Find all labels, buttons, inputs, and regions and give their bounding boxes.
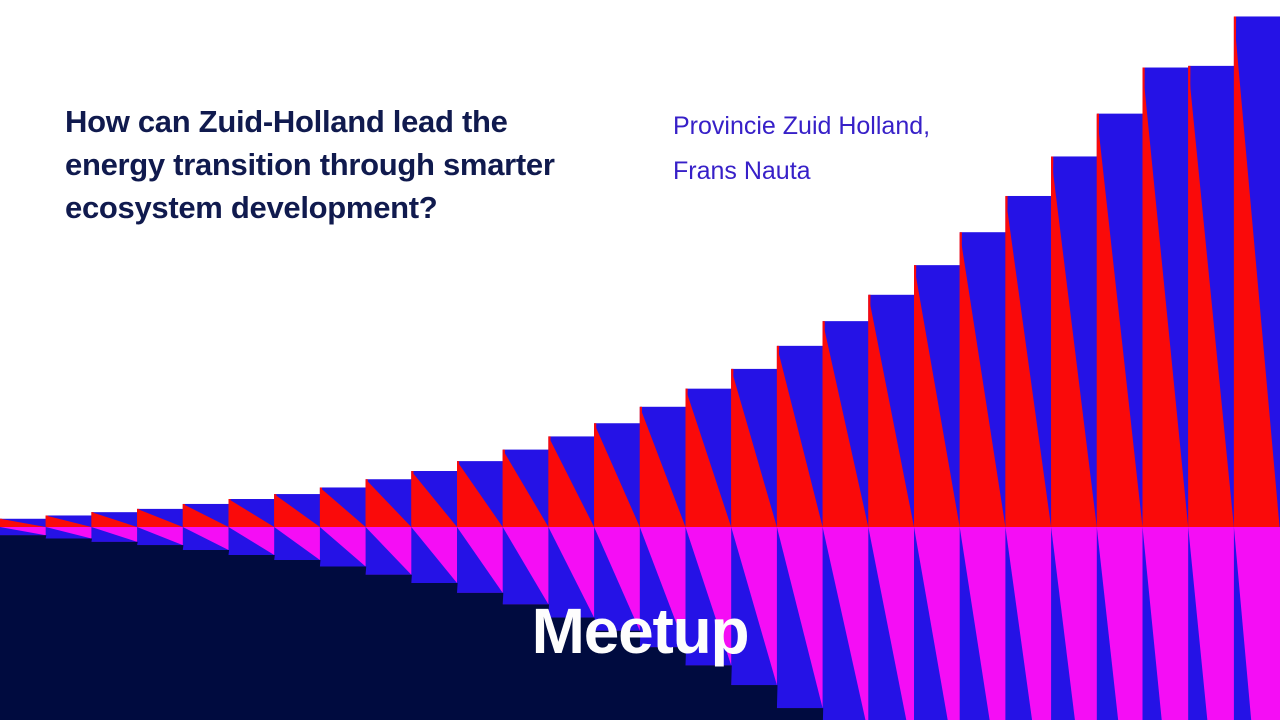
bar-upper-blue — [777, 346, 823, 527]
bar-upper-blue — [1051, 156, 1097, 527]
bar-upper-blue — [594, 423, 640, 527]
bar-upper-red-edge — [594, 423, 596, 527]
bar-upper-blue — [1005, 196, 1051, 527]
bar-upper-blue — [548, 436, 594, 527]
bar-upper-red-triangle — [274, 494, 320, 527]
bar-upper-blue — [1097, 114, 1143, 527]
bar-upper-blue — [137, 509, 183, 527]
bar-upper-red-triangle — [46, 515, 92, 527]
bar-upper-red-triangle — [1234, 16, 1280, 527]
bar-upper-blue — [320, 487, 366, 527]
bar-upper-red-triangle — [91, 512, 137, 527]
bar-upper-red-triangle — [731, 369, 777, 527]
bar-upper-red-edge — [183, 504, 185, 527]
bar-upper-red-edge — [503, 450, 505, 527]
page-title: How can Zuid-Holland lead the energy tra… — [65, 100, 575, 229]
bar-upper-red-edge — [46, 515, 48, 527]
bar-upper-red-triangle — [548, 436, 594, 527]
bar-upper-blue — [46, 515, 92, 527]
meetup-slide: How can Zuid-Holland lead the energy tra… — [0, 0, 1280, 720]
bar-upper-red-triangle — [914, 265, 960, 527]
presenter-credit: Provincie Zuid Holland, Frans Nauta — [673, 104, 1093, 194]
bar-upper-red-triangle — [1188, 66, 1234, 527]
bar-upper-red-triangle — [366, 479, 412, 527]
bar-upper-blue — [731, 369, 777, 527]
bar-upper-red-edge — [1143, 68, 1145, 527]
bar-upper-red-triangle — [229, 499, 275, 527]
bar-upper-blue — [366, 479, 412, 527]
bar-upper-red-triangle — [503, 450, 549, 527]
footer-meetup-label: Meetup — [0, 592, 1280, 670]
bar-upper-red-edge — [868, 295, 870, 527]
bar-upper-red-edge — [411, 471, 413, 527]
bar-upper-blue — [1188, 66, 1234, 527]
bar-upper-red-triangle — [868, 295, 914, 527]
bar-upper-red-edge — [91, 512, 93, 527]
bar-upper-red-edge — [1234, 16, 1236, 527]
bar-upper-blue — [1234, 16, 1280, 527]
bar-upper-red-edge — [548, 436, 550, 527]
bar-upper-blue — [183, 504, 229, 527]
bar-upper-red-edge — [320, 487, 322, 527]
bar-upper-blue — [0, 519, 46, 527]
bar-upper-blue — [457, 461, 503, 527]
bar-upper-red-edge — [274, 494, 276, 527]
bar-upper-red-edge — [137, 509, 139, 527]
bar-upper-red-edge — [823, 321, 825, 527]
bar-upper-red-edge — [457, 461, 459, 527]
bar-upper-blue — [411, 471, 457, 527]
bar-upper-blue — [960, 232, 1006, 527]
bar-upper-red-edge — [777, 346, 779, 527]
bar-upper-red-edge — [1005, 196, 1007, 527]
bar-upper-red-edge — [731, 369, 733, 527]
bar-upper-red-triangle — [1143, 68, 1189, 527]
bar-upper-red-edge — [229, 499, 231, 527]
bar-upper-red-triangle — [1005, 196, 1051, 527]
bar-upper-red-edge — [1097, 114, 1099, 527]
bar-upper-red-triangle — [320, 487, 366, 527]
bar-upper-blue — [274, 494, 320, 527]
bar-upper-red-triangle — [1097, 114, 1143, 527]
bar-upper-red-edge — [0, 519, 2, 527]
bar-upper-red-triangle — [411, 471, 457, 527]
bar-upper-red-triangle — [183, 504, 229, 527]
bar-upper-blue — [229, 499, 275, 527]
bar-upper-red-edge — [366, 479, 368, 527]
bar-upper-red-triangle — [1051, 156, 1097, 527]
bar-upper-blue — [686, 389, 732, 527]
bar-upper-red-edge — [914, 265, 916, 527]
bar-upper-red-edge — [686, 389, 688, 527]
bar-upper-red-edge — [960, 232, 962, 527]
bar-upper-red-triangle — [777, 346, 823, 527]
bar-upper-red-edge — [1188, 66, 1190, 527]
bar-upper-red-triangle — [457, 461, 503, 527]
bar-upper-blue — [823, 321, 869, 527]
bar-upper-red-triangle — [137, 509, 183, 527]
bar-upper-red-triangle — [0, 519, 46, 527]
bar-upper-blue — [868, 295, 914, 527]
bar-upper-red-triangle — [594, 423, 640, 527]
bar-upper-red-triangle — [960, 232, 1006, 527]
bar-upper-red-edge — [640, 407, 642, 527]
bar-upper-blue — [914, 265, 960, 527]
bar-upper-blue — [91, 512, 137, 527]
bar-upper-blue — [640, 407, 686, 527]
bar-upper-red-triangle — [686, 389, 732, 527]
bar-upper-blue — [1143, 68, 1189, 527]
bar-upper-red-triangle — [640, 407, 686, 527]
bar-upper-red-edge — [1051, 156, 1053, 527]
bar-upper-blue — [503, 450, 549, 527]
bar-upper-red-triangle — [823, 321, 869, 527]
